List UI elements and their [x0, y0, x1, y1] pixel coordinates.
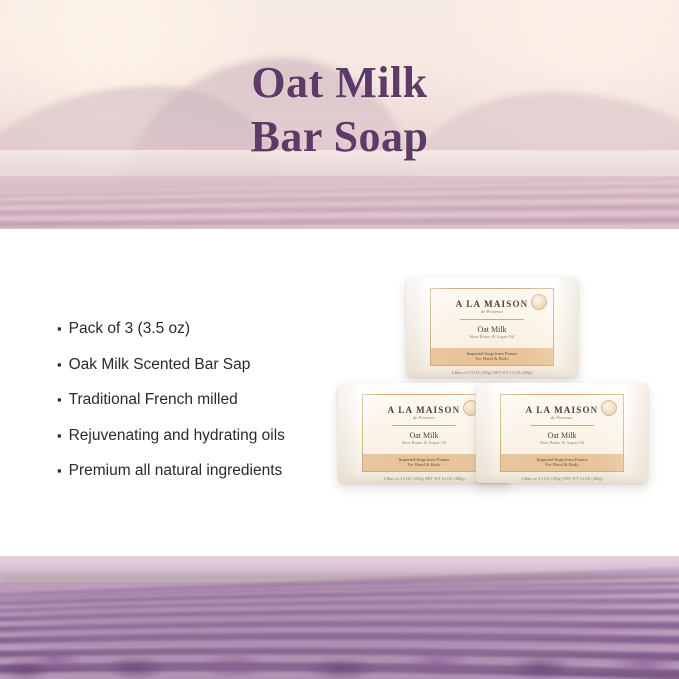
brand-name: A LA MAISON [526, 405, 599, 415]
label-divider [392, 425, 455, 426]
list-item-label: Premium all natural ingredients [69, 462, 283, 481]
hero-banner: Oat Milk Bar Soap [0, 0, 679, 229]
net-weight-text: 4 Bars of 3.5 OZ (100g) NET WT 14 OZ (40… [476, 476, 648, 481]
list-item-label: Pack of 3 (3.5 oz) [69, 320, 190, 339]
list-item: ▪ Rejuvenating and hydrating oils [57, 427, 357, 446]
lavender-clump-decor [498, 652, 584, 679]
oils-text: Shea Butter & Argan Oil [470, 334, 515, 339]
page-title: Oat Milk Bar Soap [0, 56, 679, 163]
content-panel: ▪ Pack of 3 (3.5 oz) ▪ Oak Milk Scented … [0, 229, 679, 556]
lavender-clump-decor [600, 646, 679, 679]
oils-text: Shea Butter & Argan Oil [540, 440, 585, 445]
page-title-line2: Bar Soap [0, 110, 679, 164]
brand-subtitle: de Provence [481, 309, 503, 314]
label-footer-line2: For Hand & Body [431, 356, 553, 362]
soap-label-bottom-left: A LA MAISON de Provence Oat Milk Shea Bu… [362, 394, 486, 472]
variant-name: Oat Milk [409, 431, 438, 440]
wrap-edge-right-decor [626, 383, 648, 483]
list-item: ▪ Traditional French milled [57, 391, 357, 410]
footer-lavender-band [0, 556, 679, 679]
list-item: ▪ Oak Milk Scented Bar Sap [57, 356, 357, 375]
label-footer: Imported Soap from France For Hand & Bod… [363, 454, 485, 471]
lavender-clump-decor [400, 644, 478, 679]
list-item-label: Traditional French milled [69, 391, 238, 410]
brand-name: A LA MAISON [456, 299, 529, 309]
feature-list: ▪ Pack of 3 (3.5 oz) ▪ Oak Milk Scented … [57, 320, 357, 498]
soap-label-top: A LA MAISON de Provence Oat Milk Shea Bu… [430, 288, 554, 366]
lavender-clump-decor [190, 648, 276, 679]
label-footer-line1: Imported Soap from France [537, 457, 588, 462]
hero-lavender-rows-decor [0, 176, 679, 229]
page-title-line1: Oat Milk [251, 58, 427, 107]
oils-text: Shea Butter & Argan Oil [402, 440, 447, 445]
bullet-icon: ▪ [57, 322, 62, 335]
label-footer-line2: For Hand & Body [501, 462, 623, 468]
wrap-edge-right-decor [556, 277, 578, 377]
list-item-label: Rejuvenating and hydrating oils [69, 427, 285, 446]
lavender-clump-decor [296, 654, 388, 679]
bullet-icon: ▪ [57, 393, 62, 406]
wrap-edge-left-decor [338, 383, 360, 483]
gold-seal-icon [601, 400, 617, 416]
label-divider [530, 425, 593, 426]
soap-bar-bottom-right: A LA MAISON de Provence Oat Milk Shea Bu… [476, 383, 648, 483]
bullet-icon: ▪ [57, 358, 62, 371]
product-infographic: Oat Milk Bar Soap ▪ Pack of 3 (3.5 oz) ▪… [0, 0, 679, 679]
brand-subtitle: de Provence [551, 415, 573, 420]
variant-name: Oat Milk [547, 431, 576, 440]
label-footer-line2: For Hand & Body [363, 462, 485, 468]
gold-seal-icon [531, 294, 547, 310]
wrap-edge-left-decor [476, 383, 498, 483]
variant-name: Oat Milk [477, 325, 506, 334]
lavender-clump-decor [96, 652, 176, 679]
bullet-icon: ▪ [57, 464, 62, 477]
list-item-label: Oak Milk Scented Bar Sap [69, 356, 251, 375]
product-image-soap-stack: A LA MAISON de Provence Oat Milk Shea Bu… [338, 277, 648, 507]
soap-bar-top: A LA MAISON de Provence Oat Milk Shea Bu… [406, 277, 578, 377]
net-weight-text: 4 Bars of 3.5 OZ (100g) NET WT 14 OZ (40… [406, 370, 578, 375]
brand-subtitle: de Provence [413, 415, 435, 420]
label-footer-line1: Imported Soap from France [399, 457, 450, 462]
label-footer: Imported Soap from France For Hand & Bod… [431, 348, 553, 365]
label-divider [460, 319, 523, 320]
label-footer-line1: Imported Soap from France [467, 351, 518, 356]
bullet-icon: ▪ [57, 429, 62, 442]
list-item: ▪ Pack of 3 (3.5 oz) [57, 320, 357, 339]
wrap-edge-left-decor [406, 277, 428, 377]
soap-label-bottom-right: A LA MAISON de Provence Oat Milk Shea Bu… [500, 394, 624, 472]
list-item: ▪ Premium all natural ingredients [57, 462, 357, 481]
label-footer: Imported Soap from France For Hand & Bod… [501, 454, 623, 471]
brand-name: A LA MAISON [388, 405, 461, 415]
